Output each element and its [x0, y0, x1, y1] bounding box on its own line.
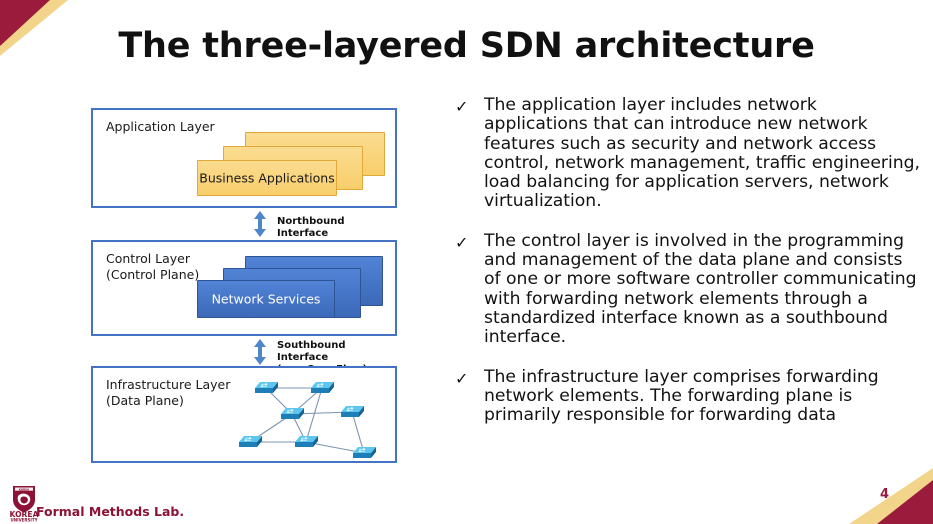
checkmark-icon: ✓: [455, 233, 468, 252]
network-switch-icon: [255, 382, 278, 393]
application-layer-box: Application Layer Business Applications: [91, 108, 397, 208]
network-switch-icon: [311, 382, 334, 393]
bullet-text: The infrastructure layer comprises forwa…: [484, 367, 879, 426]
control-layer-label: Control Layer (Control Plane): [106, 251, 199, 283]
network-switch-icon: [353, 447, 376, 458]
network-services-card-front: Network Services: [197, 280, 335, 318]
network-switch-icon: [295, 436, 318, 447]
checkmark-icon: ✓: [455, 97, 468, 116]
network-topology-graphic: [233, 374, 393, 460]
sdn-architecture-diagram: Application Layer Business Applications …: [91, 108, 399, 463]
bullet-text: The control layer is involved in the pro…: [484, 231, 917, 347]
bullet-text: The application layer includes network a…: [484, 95, 920, 211]
page-title: The three-layered SDN architecture: [0, 26, 933, 66]
checkmark-icon: ✓: [455, 369, 468, 388]
svg-text:KOREA: KOREA: [19, 487, 30, 491]
northbound-interface-connector: Northbound Interface: [91, 208, 397, 240]
network-services-label: Network Services: [198, 292, 334, 307]
topology-link: [306, 388, 322, 442]
application-layer-label: Application Layer: [106, 119, 215, 135]
northbound-double-arrow-icon: [252, 211, 268, 237]
bullet-item: ✓The infrastructure layer comprises forw…: [450, 368, 920, 426]
business-applications-label: Business Applications: [198, 171, 336, 186]
southbound-interface-connector: Southbound Interface (e.g. OpenFlow): [91, 336, 397, 368]
business-application-card-front: Business Applications: [197, 160, 337, 196]
network-switch-icon: [239, 436, 262, 447]
bullet-item: ✓The control layer is involved in the pr…: [450, 232, 920, 348]
northbound-interface-label: Northbound Interface: [277, 216, 397, 240]
page-number: 4: [880, 487, 889, 502]
bullet-list: ✓The application layer includes network …: [450, 96, 920, 445]
network-switch-icon: [341, 406, 364, 417]
bullet-item: ✓The application layer includes network …: [450, 96, 920, 212]
infrastructure-layer-box: Infrastructure Layer (Data Plane): [91, 366, 397, 463]
network-switch-icon: [281, 408, 304, 419]
infrastructure-layer-label: Infrastructure Layer (Data Plane): [106, 377, 230, 409]
lab-name-label: Formal Methods Lab.: [36, 504, 184, 519]
logo-university-text: UNIVERSITY: [11, 517, 38, 522]
southbound-double-arrow-icon: [252, 339, 268, 365]
control-layer-box: Control Layer (Control Plane) Network Se…: [91, 240, 397, 336]
topology-link: [352, 412, 364, 453]
